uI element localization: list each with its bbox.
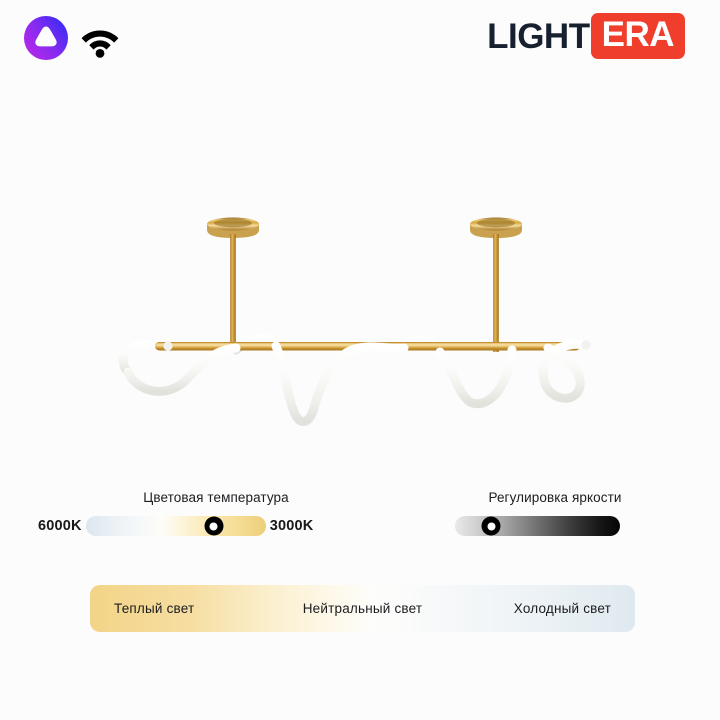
brightness-slider-row: [455, 516, 635, 536]
ceiling-mount-left: [207, 218, 259, 351]
ceiling-mount-right: [470, 218, 522, 353]
tab-warm-light[interactable]: Теплый свет: [90, 585, 280, 632]
brightness-control: Регулировка яркости: [455, 490, 635, 536]
brand-logo-era: ERA: [591, 13, 685, 59]
color-temperature-title: Цветовая температура: [96, 490, 336, 505]
tab-warm-light-label: Теплый свет: [114, 601, 194, 616]
color-temperature-slider-row: 6000K 3000K: [38, 516, 338, 536]
product-image: [0, 150, 720, 470]
wifi-icon: [80, 24, 120, 58]
page-header: LIGHT ERA: [0, 0, 720, 80]
light-preset-tabs: Теплый свет Нейтральный свет Холодный св…: [90, 585, 635, 632]
tab-cold-light-label: Холодный свет: [514, 601, 611, 616]
color-temperature-min-label: 6000K: [38, 518, 82, 534]
brightness-title: Регулировка яркости: [465, 490, 645, 505]
brightness-slider-track[interactable]: [455, 516, 620, 536]
alice-voice-assistant-icon: [22, 14, 70, 62]
brightness-slider-knob[interactable]: [482, 517, 501, 536]
brand-logo-light: LIGHT: [487, 19, 589, 54]
controls-area: Цветовая температура 6000K 3000K Регулир…: [0, 490, 720, 560]
color-temperature-slider-knob[interactable]: [204, 517, 223, 536]
tab-neutral-light[interactable]: Нейтральный свет: [280, 585, 446, 632]
status-icon-group: [22, 14, 120, 62]
tab-neutral-light-label: Нейтральный свет: [303, 601, 423, 616]
tab-cold-light[interactable]: Холодный свет: [445, 585, 635, 632]
color-temperature-max-label: 3000K: [270, 518, 314, 534]
color-temperature-slider-track[interactable]: [86, 516, 266, 536]
brand-logo: LIGHT ERA: [487, 15, 685, 57]
color-temperature-control: Цветовая температура 6000K 3000K: [38, 490, 338, 536]
led-tube-front: [128, 344, 586, 421]
